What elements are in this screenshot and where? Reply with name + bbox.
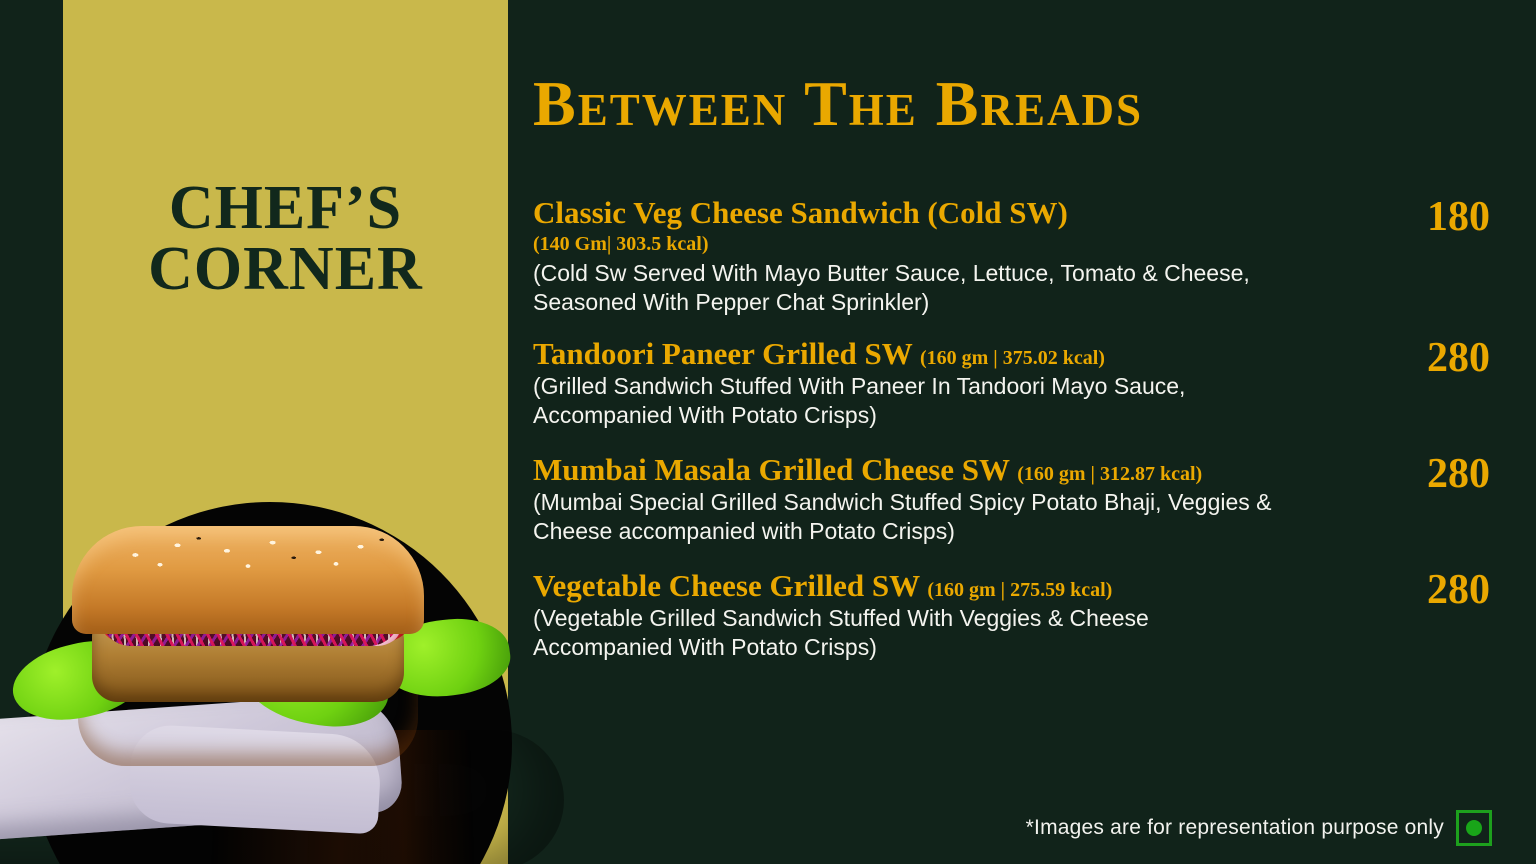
veg-symbol-icon: [1456, 810, 1492, 846]
menu-board: CHEF’S CORNER Between The Breads: [0, 0, 1536, 864]
menu-item-name: Classic Veg Cheese Sandwich (Cold SW): [533, 195, 1068, 230]
menu-item-title-line: Tandoori Paneer Grilled SW (160 gm | 375…: [533, 337, 1413, 372]
menu-item-description: (Grilled Sandwich Stuffed With Paneer In…: [533, 372, 1333, 430]
page-title: Between The Breads: [533, 72, 1463, 136]
menu-item-name: Vegetable Cheese Grilled SW: [533, 568, 920, 603]
menu-item-main: Vegetable Cheese Grilled SW (160 gm | 27…: [533, 569, 1413, 663]
menu-item-meta: (160 gm | 312.87 kcal): [1017, 463, 1202, 485]
menu-item-description: (Cold Sw Served With Mayo Butter Sauce, …: [533, 259, 1333, 317]
menu-item: Classic Veg Cheese Sandwich (Cold SW) (1…: [533, 196, 1518, 317]
menu-item-meta: (160 gm | 375.02 kcal): [920, 347, 1105, 369]
menu-item-name: Tandoori Paneer Grilled SW: [533, 336, 912, 371]
menu-item-main: Mumbai Masala Grilled Cheese SW (160 gm …: [533, 453, 1413, 547]
menu-item-price: 280: [1370, 337, 1490, 379]
sesame-seeds: [72, 526, 424, 595]
menu-content: Between The Breads Classic Veg Cheese Sa…: [508, 0, 1536, 864]
menu-item-main: Classic Veg Cheese Sandwich (Cold SW) (1…: [533, 196, 1413, 317]
menu-item: Tandoori Paneer Grilled SW (160 gm | 375…: [533, 337, 1518, 433]
menu-item-list: Classic Veg Cheese Sandwich (Cold SW) (1…: [533, 196, 1518, 685]
menu-item-title-line: Classic Veg Cheese Sandwich (Cold SW): [533, 196, 1413, 231]
menu-item-title-line: Vegetable Cheese Grilled SW (160 gm | 27…: [533, 569, 1413, 604]
menu-item: Vegetable Cheese Grilled SW (160 gm | 27…: [533, 569, 1518, 665]
chefs-corner-heading: CHEF’S CORNER: [63, 178, 508, 300]
menu-item-description: (Vegetable Grilled Sandwich Stuffed With…: [533, 604, 1333, 662]
menu-item-title-line: Mumbai Masala Grilled Cheese SW (160 gm …: [533, 453, 1413, 488]
veg-symbol-dot: [1466, 820, 1482, 836]
footer: *Images are for representation purpose o…: [1026, 810, 1492, 846]
menu-item-meta: (160 gm | 275.59 kcal): [927, 579, 1112, 601]
menu-item-meta: (140 Gm| 303.5 kcal): [533, 231, 1413, 258]
menu-item-main: Tandoori Paneer Grilled SW (160 gm | 375…: [533, 337, 1413, 431]
bun-top: [72, 526, 424, 634]
menu-item: Mumbai Masala Grilled Cheese SW (160 gm …: [533, 453, 1518, 549]
menu-item-name: Mumbai Masala Grilled Cheese SW: [533, 452, 1009, 487]
disclaimer-text: *Images are for representation purpose o…: [1026, 816, 1444, 840]
menu-item-description: (Mumbai Special Grilled Sandwich Stuffed…: [533, 488, 1333, 546]
menu-item-price: 280: [1370, 453, 1490, 495]
menu-item-price: 280: [1370, 569, 1490, 611]
menu-item-price: 180: [1370, 196, 1490, 238]
burger-photo: [0, 430, 580, 864]
